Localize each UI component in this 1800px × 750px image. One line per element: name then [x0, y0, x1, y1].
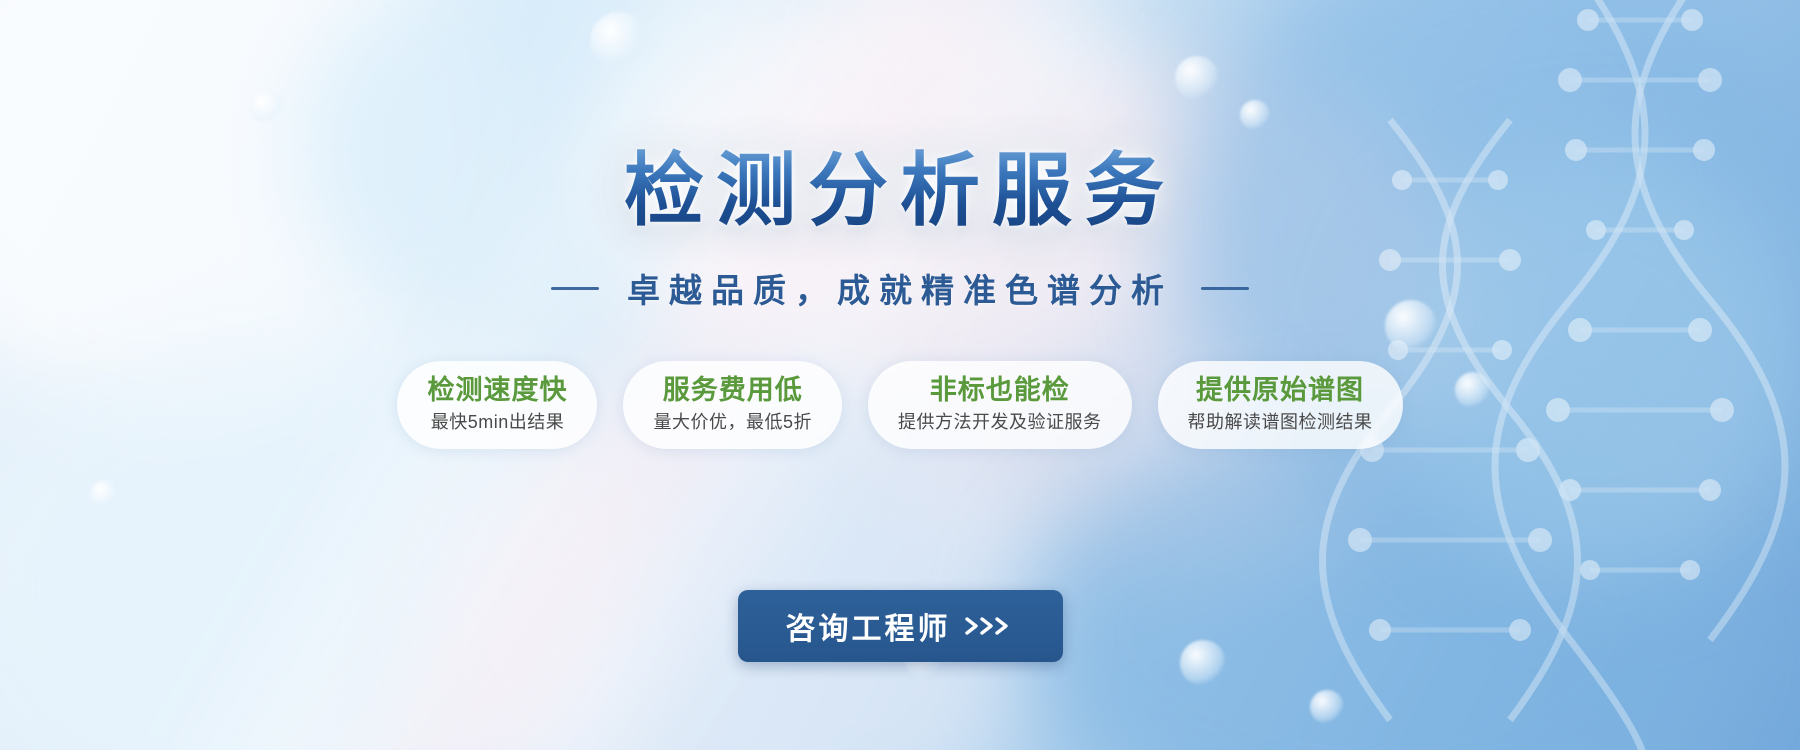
promo-banner: 检测分析服务 卓越品质，成就精准色谱分析 检测速度快 最快5min出结果 服务费… — [0, 0, 1800, 750]
banner-title: 检测分析服务 — [0, 126, 1800, 242]
banner-subtitle: 卓越品质，成就精准色谱分析 — [627, 264, 1173, 312]
consult-engineer-button[interactable]: 咨询工程师 — [738, 590, 1063, 662]
feature-pill-title: 非标也能检 — [930, 375, 1070, 407]
feature-pill-subtitle: 最快5min出结果 — [431, 411, 565, 434]
feature-pill-title: 提供原始谱图 — [1196, 375, 1364, 407]
subtitle-dash-left — [551, 287, 599, 290]
feature-pill-subtitle: 量大价优，最低5折 — [653, 411, 812, 434]
feature-pill-subtitle: 帮助解读谱图检测结果 — [1188, 411, 1373, 434]
consult-engineer-label: 咨询工程师 — [786, 604, 951, 648]
feature-pill-title: 检测速度快 — [427, 375, 567, 407]
feature-pill[interactable]: 提供原始谱图 帮助解读谱图检测结果 — [1158, 361, 1403, 449]
feature-pill[interactable]: 服务费用低 量大价优，最低5折 — [623, 361, 842, 449]
feature-pill-title: 服务费用低 — [663, 375, 803, 407]
feature-pill-subtitle: 提供方法开发及验证服务 — [898, 411, 1102, 434]
feature-pill-list: 检测速度快 最快5min出结果 服务费用低 量大价优，最低5折 非标也能检 提供… — [0, 361, 1800, 449]
cta-container: 咨询工程师 — [0, 590, 1800, 662]
feature-pill[interactable]: 检测速度快 最快5min出结果 — [397, 361, 597, 449]
subtitle-dash-right — [1201, 287, 1249, 290]
chevron-right-triple-icon — [963, 613, 1015, 639]
banner-subtitle-row: 卓越品质，成就精准色谱分析 — [0, 264, 1800, 312]
feature-pill[interactable]: 非标也能检 提供方法开发及验证服务 — [868, 361, 1132, 449]
